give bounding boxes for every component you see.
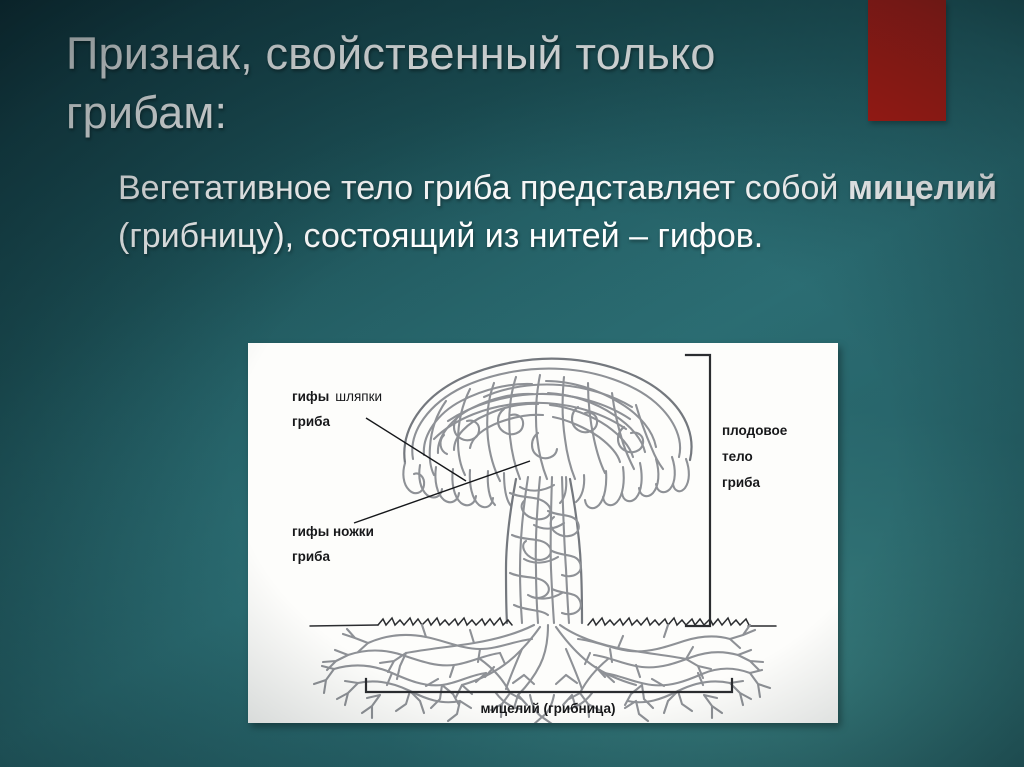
mushroom-stem-hyphae: [506, 477, 582, 623]
label-cap-hyphae-line2: гриба: [292, 414, 331, 429]
label-fruit-body-line1: плодовое: [722, 423, 788, 438]
red-accent-bar: [868, 0, 946, 121]
presentation-slide: Признак, свойственный только грибам: Вег…: [0, 0, 1024, 767]
fruit-body-bracket: [686, 355, 710, 626]
body-paragraph: Вегетативное тело гриба представляет соб…: [118, 165, 998, 260]
mushroom-cap-hyphae: [403, 359, 691, 509]
body-text-part1: Вегетативное тело гриба представляет соб…: [118, 169, 848, 207]
mushroom-diagram-panel: гифышляпки гриба гифы ножки гриба плодов…: [248, 343, 838, 723]
body-text-emphasis: мицелий: [848, 169, 997, 207]
label-fruit-body-line2: тело: [722, 449, 753, 464]
ground-line: [310, 618, 776, 626]
label-stem-hyphae-line1: гифы ножки: [292, 524, 374, 539]
body-text-part2: (грибницу), состоящий из нитей – гифов.: [118, 217, 763, 255]
label-mycelium-caption: мицелий (грибница): [481, 701, 616, 716]
label-stem-hyphae-line2: гриба: [292, 549, 331, 564]
leader-lines: [354, 418, 530, 523]
page-title: Признак, свойственный только грибам:: [66, 24, 876, 143]
label-fruit-body-line3: гриба: [722, 475, 761, 490]
mycelium-bracket: [366, 679, 732, 692]
mushroom-anatomy-diagram: гифышляпки гриба гифы ножки гриба плодов…: [248, 343, 838, 723]
label-cap-hyphae-line1: гифышляпки: [292, 389, 382, 404]
